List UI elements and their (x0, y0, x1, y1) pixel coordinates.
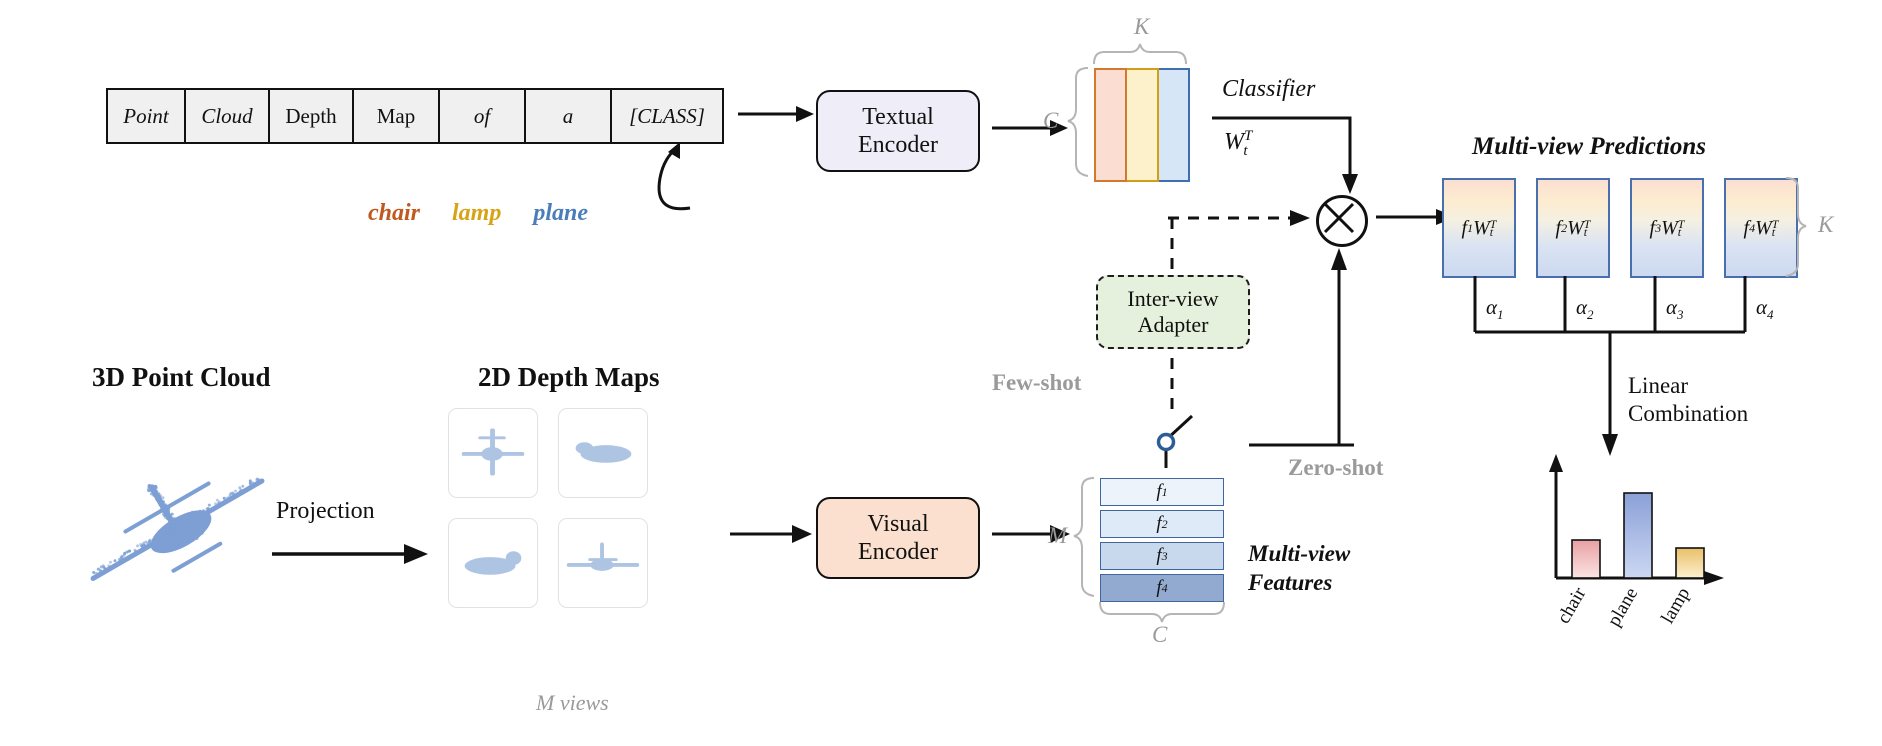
linear-combination-line2: Combination (1628, 400, 1748, 428)
multi-view-feature-stack: f1f2f3f4 (1100, 478, 1224, 602)
bar-label-plane: plane (1604, 584, 1643, 630)
arrow-prompt-to-textual-encoder (738, 100, 818, 132)
brace-predictions-k (1784, 176, 1806, 278)
class-word-lamp: lamp (452, 200, 501, 227)
multi-view-features-caption: Multi-view Features (1248, 540, 1350, 598)
visual-encoder-line2: Encoder (858, 538, 938, 566)
prediction-box-1: f1WTt (1442, 178, 1516, 278)
prompt-token-1: Cloud (186, 90, 270, 142)
depth-map-tile-view-side-right (558, 408, 648, 498)
class-word-chair: chair (368, 200, 420, 227)
bar-label-lamp: lamp (1657, 584, 1694, 627)
alpha-label-2: α2 (1576, 295, 1594, 323)
brace-classifier-k (1092, 44, 1192, 66)
visual-encoder-box: Visual Encoder (816, 497, 980, 579)
textual-encoder-line1: Textual (862, 103, 934, 131)
prediction-box-list: f1WTtf2WTtf3WTtf4WTt (1442, 178, 1798, 278)
arrow-to-bar-chart (1594, 380, 1624, 460)
class-word-plane: plane (533, 200, 588, 227)
alpha-label-3: α3 (1666, 295, 1684, 323)
classifier-k-label: K (1134, 14, 1149, 40)
bar-label-chair: chair (1553, 583, 1591, 627)
features-m-label: M (1048, 523, 1067, 549)
textual-encoder-line2: Encoder (858, 131, 938, 159)
alpha-combination-tree (1442, 276, 1772, 384)
feature-row-f1: f1 (1100, 478, 1224, 506)
classifier-c-label: C (1043, 108, 1058, 134)
prompt-token-3: Map (354, 90, 440, 142)
prompt-token-4: of (440, 90, 526, 142)
features-c-label: C (1152, 622, 1167, 648)
mode-switch[interactable] (1140, 408, 1210, 468)
feature-row-f2: f2 (1100, 510, 1224, 538)
prompt-template-row: PointCloudDepthMapofa[CLASS] (106, 88, 724, 144)
classifier-column-lamp (1127, 68, 1158, 182)
m-views-label: M views (536, 690, 609, 716)
arrow-textual-encoder-to-classifier (992, 114, 1074, 144)
features-caption-line2: Features (1248, 569, 1350, 598)
prediction-box-3: f3WTt (1630, 178, 1704, 278)
textual-encoder-box: Textual Encoder (816, 90, 980, 172)
zero-shot-label: Zero-shot (1288, 455, 1383, 481)
few-shot-label: Few-shot (992, 370, 1081, 396)
adapter-line2: Adapter (1138, 312, 1209, 338)
feature-row-f3: f3 (1100, 542, 1224, 570)
depth-maps-heading: 2D Depth Maps (478, 362, 660, 393)
prompt-token-0: Point (108, 90, 186, 142)
arrow-projection (272, 540, 432, 572)
alpha-label-1: α1 (1486, 295, 1504, 323)
bar-plane (1624, 493, 1652, 578)
predictions-k-label: K (1818, 212, 1833, 238)
bar-chair (1572, 540, 1600, 578)
feature-row-f4: f4 (1100, 574, 1224, 602)
prompt-token-5: a (526, 90, 612, 142)
classifier-column-chair (1094, 68, 1127, 182)
alpha-label-4: α4 (1756, 295, 1774, 323)
classifier-weight-matrix (1094, 68, 1190, 178)
multi-view-predictions-heading: Multi-view Predictions (1472, 133, 1706, 161)
point-cloud-airplane (70, 440, 290, 620)
classifier-column-plane (1159, 68, 1190, 182)
prompt-token-2: Depth (270, 90, 354, 142)
class-word-list: chairlampplane (368, 200, 588, 227)
prompt-token-6: [CLASS] (612, 90, 722, 142)
prediction-bar-chart: chairplanelamp (1530, 462, 1730, 622)
projection-label: Projection (276, 498, 375, 525)
depth-map-tile-view-side-left (448, 518, 538, 608)
brace-features-c (1098, 602, 1226, 624)
linear-combination-label: Linear Combination (1628, 372, 1748, 428)
classifier-name-label: Classifier (1222, 76, 1315, 103)
dashed-path-adapter-to-multiply (1168, 206, 1318, 232)
bar-lamp (1676, 548, 1704, 578)
features-caption-line1: Multi-view (1248, 540, 1350, 569)
visual-encoder-line1: Visual (867, 510, 928, 538)
depth-map-tile-view-top (558, 518, 648, 608)
prediction-box-2: f2WTt (1536, 178, 1610, 278)
arrow-depth-maps-to-visual-encoder (730, 520, 818, 552)
point-cloud-heading: 3D Point Cloud (92, 362, 271, 393)
depth-map-tile-view-front (448, 408, 538, 498)
elbow-features-to-multiply (1204, 240, 1364, 450)
depth-map-tile-grid (448, 408, 648, 608)
linear-combination-line1: Linear (1628, 372, 1748, 400)
brace-classifier-c (1068, 66, 1090, 180)
curved-arrow-class-to-slot (594, 142, 704, 222)
brace-features-m (1074, 476, 1096, 600)
